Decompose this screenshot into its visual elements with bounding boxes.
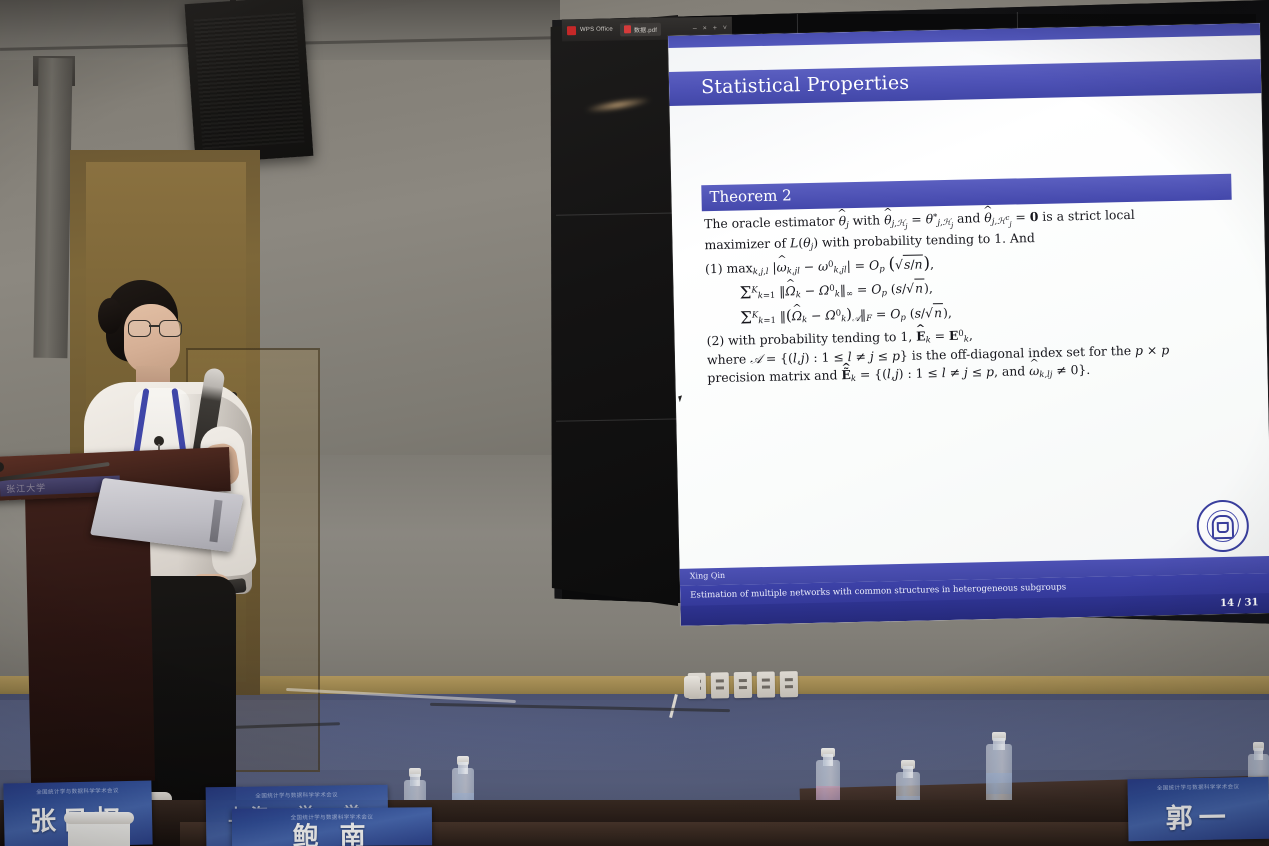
page-title: Statistical Properties	[701, 72, 910, 99]
seal-emblem-icon	[1212, 515, 1235, 539]
page-number: 14 / 31	[1220, 597, 1259, 609]
presenter-hair-bun	[98, 298, 122, 334]
nameplate: 全国统计学与数据科学学术会议 郭一	[1127, 777, 1269, 841]
glasses-bridge	[149, 325, 159, 327]
pdf-file-icon	[624, 25, 631, 33]
wall-outlet-group	[688, 671, 801, 707]
footer-author: Xing Qin	[690, 571, 726, 581]
podium-plate-text: 张江大学	[6, 481, 47, 496]
nameplate-header: 全国统计学与数据科学学术会议	[3, 785, 151, 796]
wall-pipe	[33, 58, 72, 359]
presentation-room-photo: WPS Office 数据.pdf – × + ˅ Statistical Pr…	[0, 0, 1269, 846]
wall-outlet[interactable]	[780, 671, 798, 697]
bottle-label	[986, 773, 1012, 793]
paper-cup[interactable]	[68, 818, 130, 846]
nameplate-name: 鲍 南	[232, 815, 432, 846]
wall-outlet[interactable]	[757, 671, 775, 697]
lens-left	[128, 320, 151, 337]
nameplate-name: 郭一	[1128, 795, 1269, 836]
wps-tab-label: 数据.pdf	[634, 24, 657, 33]
power-plug[interactable]	[684, 676, 700, 698]
slide-content: Statistical Properties Theorem 2 The ora…	[668, 23, 1269, 626]
wps-window-controls[interactable]: – × + ˅	[693, 24, 727, 32]
speaker-grille	[194, 13, 305, 150]
wps-logo-icon	[567, 26, 576, 35]
eyeglasses	[128, 320, 180, 336]
lens-right	[159, 320, 182, 337]
nameplate: 全国统计学与数据科学学术会议 鲍 南	[232, 807, 432, 846]
wall-outlet[interactable]	[711, 672, 729, 698]
minimize-icon[interactable]: –	[693, 25, 697, 32]
chevron-down-icon[interactable]: ˅	[723, 24, 727, 31]
presenter-face	[124, 304, 180, 374]
cup-lid	[64, 812, 134, 824]
theorem-body: The oracle estimator θj with θj,ℋj = θ*j…	[704, 204, 1234, 389]
nameplate-header: 全国统计学与数据科学学术会议	[1128, 782, 1269, 792]
wps-document-tab[interactable]: 数据.pdf	[620, 22, 661, 36]
close-icon[interactable]: ×	[703, 25, 707, 32]
new-tab-icon[interactable]: +	[713, 24, 717, 31]
ceiling-speaker	[185, 0, 314, 164]
presentation-slide[interactable]: Statistical Properties Theorem 2 The ora…	[668, 23, 1269, 626]
wall-outlet[interactable]	[734, 672, 752, 698]
wps-app-label: WPS Office	[580, 27, 613, 34]
theorem-heading: Theorem 2	[709, 186, 792, 206]
